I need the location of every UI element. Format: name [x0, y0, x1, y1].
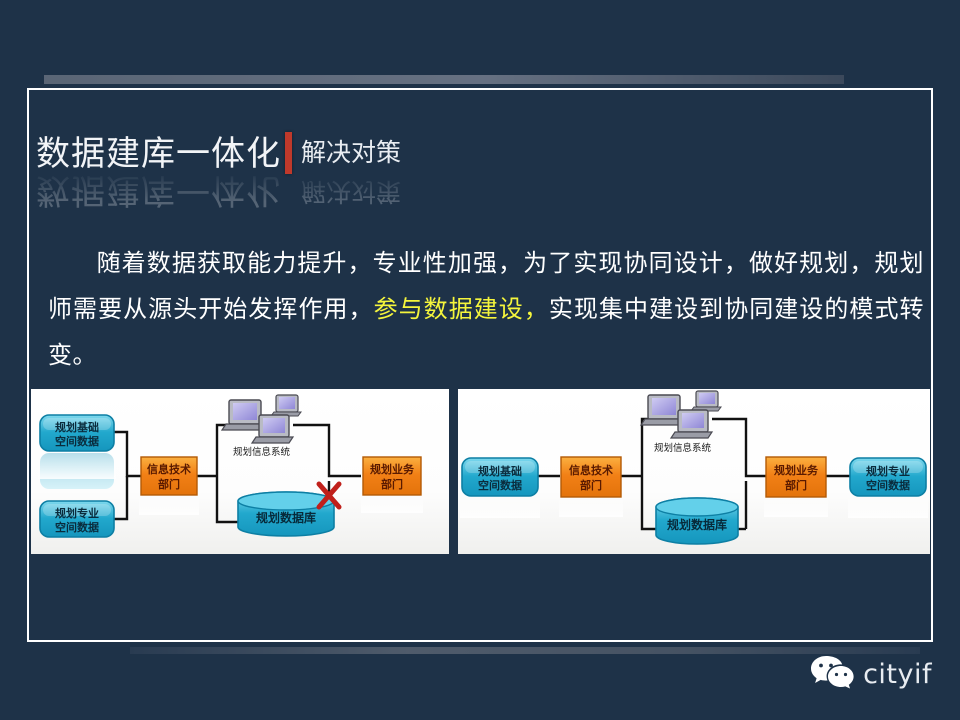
page-subtitle-reflection: 解决对策 — [301, 170, 401, 210]
node-base-spatial-data: 规划基础 空间数据 — [38, 415, 116, 489]
svg-text:规划数据库: 规划数据库 — [667, 517, 727, 532]
node-it-department: 信息技术 部门 — [139, 457, 199, 515]
svg-text:信息技术: 信息技术 — [147, 462, 191, 476]
svg-text:空间数据: 空间数据 — [866, 478, 910, 492]
node-business-department: 规划业务 部门 — [764, 457, 828, 517]
svg-text:部门: 部门 — [381, 477, 403, 491]
page-title: 数据建库一体化 — [36, 134, 281, 174]
svg-text:空间数据: 空间数据 — [55, 520, 99, 534]
footer-logo: cityif — [810, 655, 932, 693]
diagram-right: 规划信息系统 规划基础 空间数据 信息技术 部门 规划数据库 — [458, 389, 930, 554]
svg-text:信息技术: 信息技术 — [569, 463, 613, 477]
svg-text:空间数据: 空间数据 — [478, 478, 522, 492]
svg-text:规划基础: 规划基础 — [55, 420, 99, 434]
diagram-left: 规划信息系统 规划基础 空间数据 规划专业 空间数据 — [31, 389, 449, 554]
svg-text:规划基础: 规划基础 — [478, 464, 522, 478]
node-base-spatial-data: 规划基础 空间数据 — [460, 458, 540, 518]
slide-title-block: 数据建库一体化 解决对策 数据建库一体化 解决对策 — [36, 126, 401, 216]
wechat-icon — [810, 655, 854, 693]
monitor-icon-2 — [271, 395, 301, 416]
svg-text:规划业务: 规划业务 — [774, 463, 819, 477]
bottom-accent-bar — [130, 647, 920, 654]
node-planning-database: 规划数据库 — [656, 498, 738, 544]
svg-text:规划数据库: 规划数据库 — [256, 510, 316, 525]
node-business-department: 规划业务 部门 — [361, 457, 423, 513]
svg-text:规划业务: 规划业务 — [370, 462, 415, 476]
svg-text:部门: 部门 — [785, 478, 807, 492]
svg-text:规划专业: 规划专业 — [866, 464, 910, 478]
page-subtitle: 解决对策 — [301, 134, 401, 174]
paragraph-line-2-pre: 需要从源头开始发挥作用， — [73, 295, 374, 323]
svg-text:空间数据: 空间数据 — [55, 434, 99, 448]
title-reflection: 数据建库一体化 解决对策 — [36, 170, 401, 210]
logo-text: cityif — [863, 661, 932, 688]
svg-text:部门: 部门 — [580, 478, 602, 492]
monitor-icon-2 — [691, 391, 721, 411]
computer-icons — [641, 391, 721, 438]
page-title-reflection: 数据建库一体化 — [36, 170, 281, 210]
paragraph-highlight: 参与数据建设， — [374, 295, 549, 323]
label-planning-system: 规划信息系统 — [233, 446, 291, 458]
title-divider-bar — [285, 132, 292, 174]
node-professional-spatial-data: 规划专业 空间数据 — [40, 501, 114, 537]
label-planning-system: 规划信息系统 — [654, 442, 712, 454]
diagram-panels: 规划信息系统 规划基础 空间数据 规划专业 空间数据 — [31, 389, 930, 554]
svg-text:部门: 部门 — [158, 477, 180, 491]
top-accent-bar — [44, 75, 844, 84]
title-row: 数据建库一体化 解决对策 — [36, 126, 401, 174]
node-professional-spatial-data: 规划专业 空间数据 — [848, 458, 928, 518]
svg-text:规划专业: 规划专业 — [55, 506, 99, 520]
node-it-department: 信息技术 部门 — [559, 457, 623, 517]
node-planning-database: 规划数据库 — [238, 492, 334, 536]
computer-icons — [222, 395, 301, 443]
body-paragraph: 随着数据获取能力提升，专业性加强，为了实现协同设计，做好规划，规划师需要从源头开… — [48, 240, 924, 378]
